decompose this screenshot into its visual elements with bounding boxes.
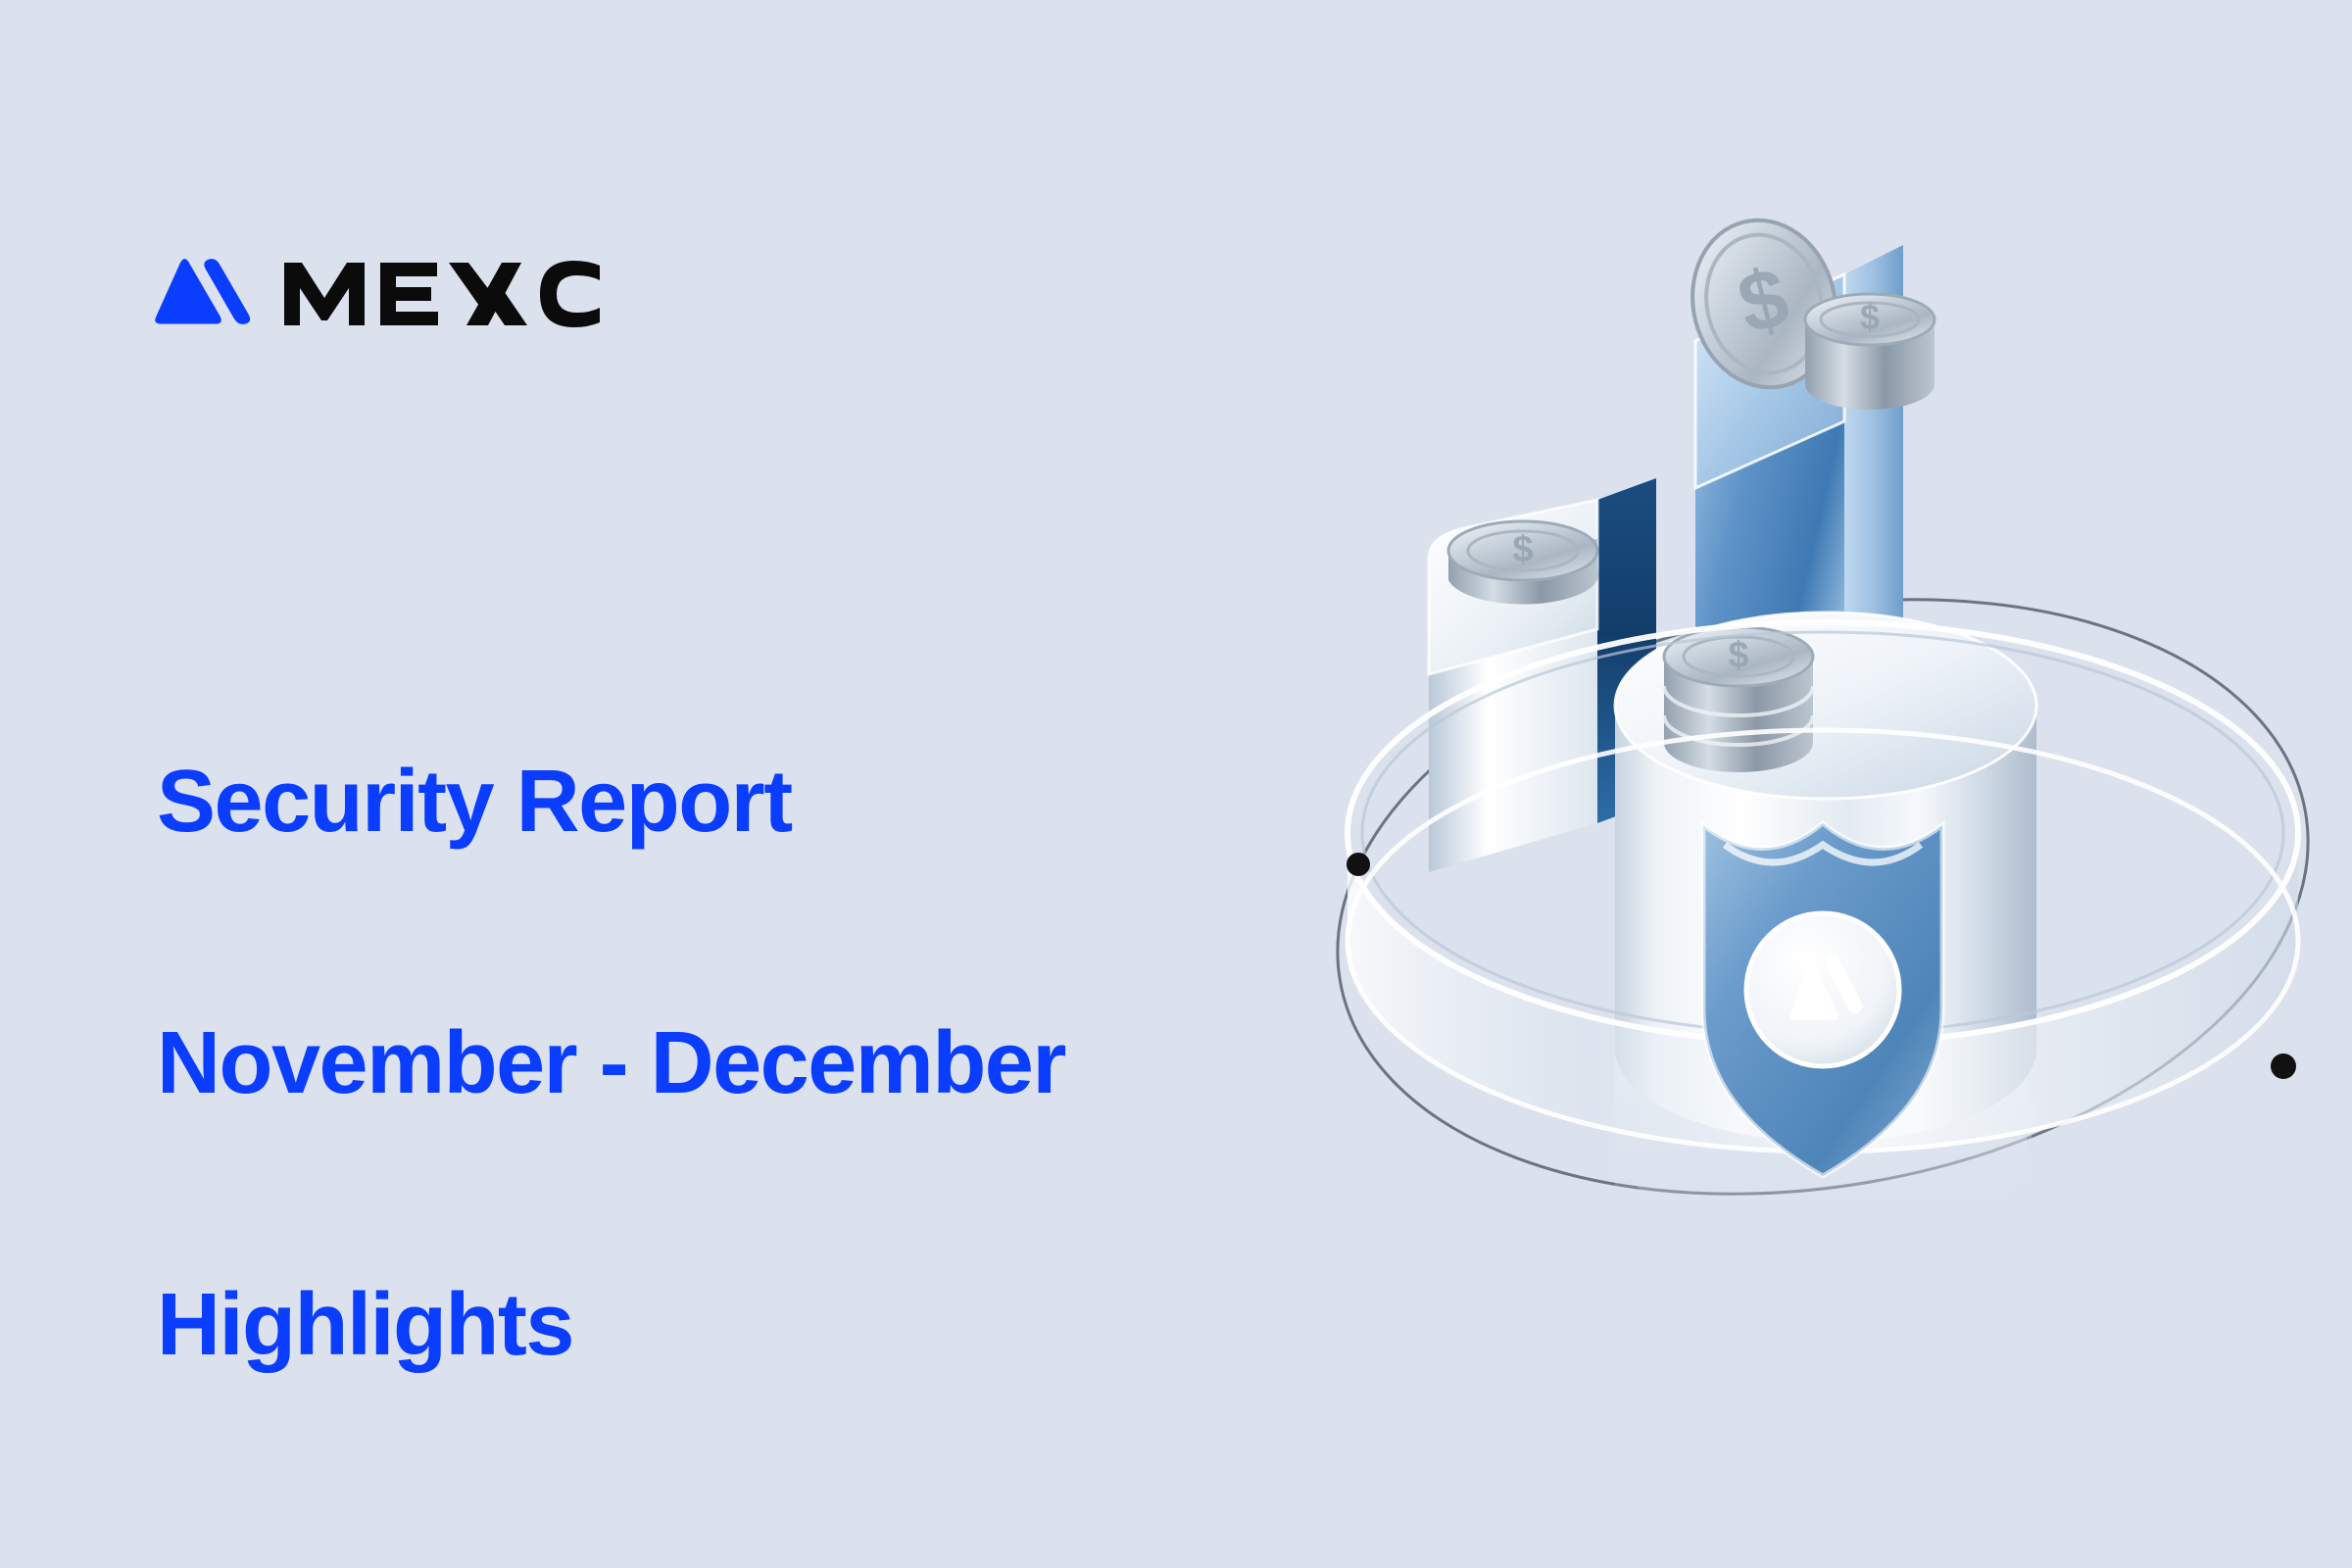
security-bar-chart-graphic: $ $ $ $ xyxy=(1303,363,2313,1245)
mexc-logo-mark-icon xyxy=(149,253,255,335)
hero-illustration: $ $ $ $ xyxy=(1303,363,2313,1245)
poster-canvas: MEXC Security Report November - December… xyxy=(0,0,2352,1568)
svg-text:$: $ xyxy=(1728,635,1748,676)
coin-stack-front: $ xyxy=(1664,627,1813,772)
headline-line-1: Security Report xyxy=(157,759,1065,846)
svg-text:$: $ xyxy=(1512,529,1533,570)
brand-lockup: MEXC xyxy=(149,253,604,335)
headline-line-2: November - December xyxy=(157,1020,1065,1107)
coin-stack-top: $ xyxy=(1805,294,1935,410)
orbit-dot-right-icon xyxy=(2271,1053,2296,1079)
headline-line-3: Highlights xyxy=(157,1282,1065,1369)
orbit-dot-left-icon xyxy=(1347,853,1370,876)
page-title: Security Report November - December High… xyxy=(157,584,1065,1543)
coin-flat-on-silver-bar: $ xyxy=(1448,521,1599,605)
svg-text:$: $ xyxy=(1860,297,1880,337)
mexc-wordmark xyxy=(280,259,604,329)
